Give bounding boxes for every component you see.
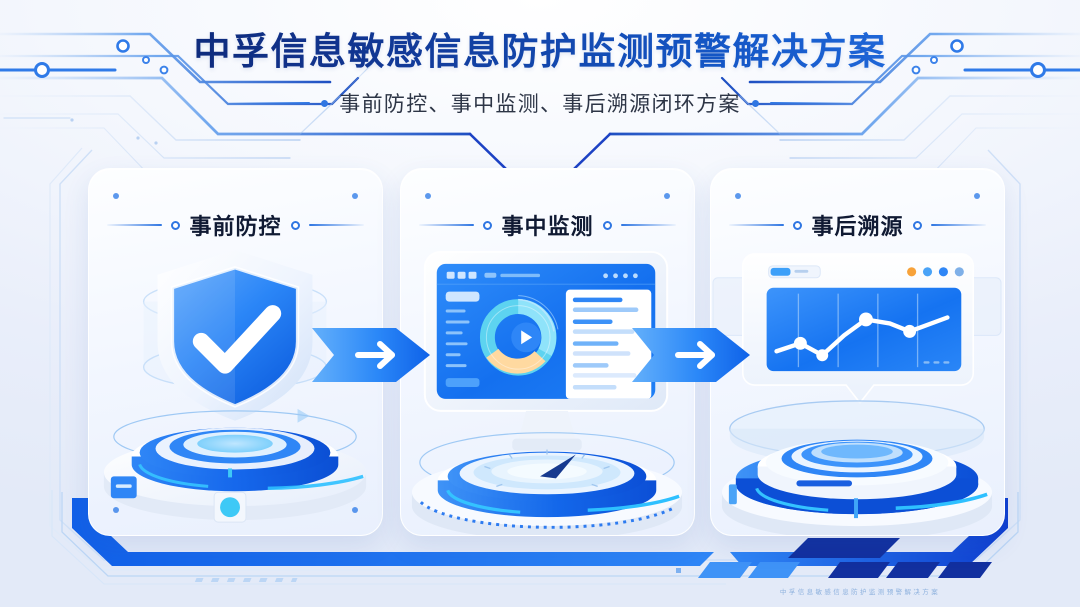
divider-line-right: [931, 224, 986, 226]
chart-window: [743, 254, 973, 403]
step-card-title: 事前防控: [189, 209, 281, 241]
podium: [104, 411, 366, 522]
line-chart-window-illustration: [711, 241, 1004, 536]
divider-line-right: [309, 224, 364, 226]
divider-line-left: [419, 224, 474, 226]
corner-dot-icon: [352, 193, 358, 199]
step-card-traceability[interactable]: 事后溯源: [710, 168, 1005, 536]
step-card-header: 事后溯源: [711, 209, 1004, 241]
page-title: 中孚信息敏感信息防护监测预警解决方案: [0, 28, 1080, 75]
subtitle-row: 事前防控、事中监测、事后溯源闭环方案: [0, 88, 1080, 118]
page-subtitle: 事前防控、事中监测、事后溯源闭环方案: [339, 88, 740, 118]
footer-micro-text: 中孚信息敏感信息防护监测预警解决方案: [780, 587, 940, 596]
ring-dot-icon: [171, 221, 180, 230]
corner-dot-icon: [425, 193, 431, 199]
subtitle-dot-right: [752, 100, 759, 107]
subtitle-dot-left: [321, 100, 328, 107]
steps-container: 事前防控: [70, 168, 1010, 538]
step-card-header: 事前防控: [89, 209, 382, 241]
step-card-header: 事中监测: [401, 209, 694, 241]
slide-stage: 中孚信息敏感信息防护监测预警解决方案 中孚信息敏感信息防护监测预警解决方案 事前…: [0, 0, 1080, 607]
corner-dot-icon: [113, 193, 119, 199]
ring-dot-icon: [913, 221, 922, 230]
status-dot-orange: [907, 267, 916, 276]
ring-dot-icon: [603, 221, 612, 230]
status-dot-blue: [939, 267, 948, 276]
subtitle-line-right: [770, 102, 858, 104]
toggle-icon: [771, 268, 791, 276]
subtitle-line-left: [222, 102, 310, 104]
ring-dot-icon: [291, 221, 300, 230]
chart-area: [767, 288, 962, 371]
divider-line-right: [621, 224, 676, 226]
step-card-title: 事中监测: [501, 209, 593, 241]
status-dot-blue: [955, 267, 964, 276]
status-dot-blue: [923, 267, 932, 276]
divider-line-left: [729, 224, 784, 226]
arrow-step-2-to-3: [630, 320, 752, 390]
slide-header: 中孚信息敏感信息防护监测预警解决方案 事前防控、事中监测、事后溯源闭环方案: [0, 28, 1080, 118]
arrow-step-1-to-2: [310, 320, 432, 390]
corner-dot-icon: [664, 193, 670, 199]
step-card-title: 事后溯源: [811, 209, 903, 241]
ring-dot-icon: [793, 221, 802, 230]
corner-dot-icon: [735, 193, 741, 199]
corner-dot-icon: [974, 193, 980, 199]
divider-line-left: [107, 224, 162, 226]
ring-dot-icon: [483, 221, 492, 230]
